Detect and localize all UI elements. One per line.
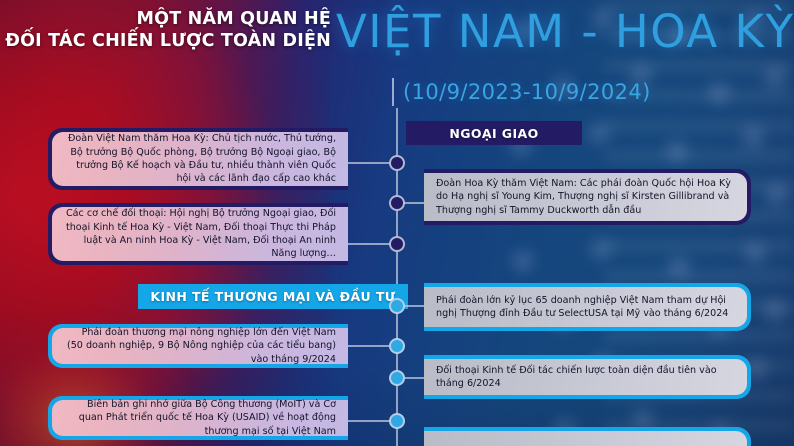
timeline-card-2-body: Các cơ chế đối thoại: Hội nghị Bộ trưởng… [52, 207, 348, 261]
timeline-card-7-body: Biên bản ghi nhớ giữa Bộ Công thương (Mo… [52, 400, 348, 436]
header-date-divider [392, 78, 394, 106]
timeline-card-1[interactable]: Đoàn Việt Nam thăm Hoa Kỳ: Chủ tịch nước… [48, 128, 348, 190]
timeline-card-8-body [424, 431, 747, 446]
timeline-node-1 [389, 155, 405, 171]
timeline-card-6-text: Đối thoại Kinh tế Đối tác chiến lược toà… [436, 364, 735, 391]
timeline-card-4[interactable]: Phái đoàn lớn kỷ lục 65 doanh nghiệp Việ… [424, 283, 751, 331]
timeline-card-4-body: Phái đoàn lớn kỷ lục 65 doanh nghiệp Việ… [424, 287, 747, 327]
timeline-card-7-text: Biên bản ghi nhớ giữa Bộ Công thương (Mo… [64, 398, 336, 438]
timeline-card-5-body: Phái đoàn thương mại nông nghiệp lớn đến… [52, 328, 348, 364]
header-kicker-line-1: MỘT NĂM QUAN HỆ [5, 8, 331, 30]
timeline-card-1-body: Đoàn Việt Nam thăm Hoa Kỳ: Chủ tịch nước… [52, 132, 348, 186]
timeline-card-3[interactable]: Đoàn Hoa Kỳ thăm Việt Nam: Các phái đoàn… [424, 169, 751, 225]
header-date-range: (10/9/2023-10/9/2024) [403, 80, 651, 104]
header-date-group: (10/9/2023-10/9/2024) [392, 78, 651, 106]
timeline-card-3-body: Đoàn Hoa Kỳ thăm Việt Nam: Các phái đoàn… [424, 173, 747, 221]
section-header-economy: KINH TẾ THƯƠNG MẠI VÀ ĐẦU TƯ [138, 284, 408, 309]
timeline-card-3-text: Đoàn Hoa Kỳ thăm Việt Nam: Các phái đoàn… [436, 177, 735, 217]
timeline-node-2 [389, 195, 405, 211]
timeline-card-2[interactable]: Các cơ chế đối thoại: Hội nghị Bộ trưởng… [48, 203, 348, 265]
infographic-canvas: MỘT NĂM QUAN HỆ ĐỐI TÁC CHIẾN LƯỢC TOÀN … [0, 0, 794, 446]
timeline-card-4-text: Phái đoàn lớn kỷ lục 65 doanh nghiệp Việ… [436, 294, 735, 321]
timeline-card-6-body: Đối thoại Kinh tế Đối tác chiến lược toà… [424, 359, 747, 395]
timeline-node-7 [389, 413, 405, 429]
timeline-card-5-text: Phái đoàn thương mại nông nghiệp lớn đến… [64, 326, 336, 366]
section-header-diplomacy: NGOẠI GIAO [406, 121, 582, 145]
header-kicker: MỘT NĂM QUAN HỆ ĐỐI TÁC CHIẾN LƯỢC TOÀN … [5, 8, 331, 52]
timeline-card-5[interactable]: Phái đoàn thương mại nông nghiệp lớn đến… [48, 324, 348, 368]
timeline-card-2-text: Các cơ chế đối thoại: Hội nghị Bộ trưởng… [64, 207, 336, 261]
timeline-card-1-text: Đoàn Việt Nam thăm Hoa Kỳ: Chủ tịch nước… [64, 132, 336, 186]
header-kicker-line-2: ĐỐI TÁC CHIẾN LƯỢC TOÀN DIỆN [5, 30, 331, 52]
timeline-card-7[interactable]: Biên bản ghi nhớ giữa Bộ Công thương (Mo… [48, 396, 348, 440]
infographic-header: MỘT NĂM QUAN HỆ ĐỐI TÁC CHIẾN LƯỢC TOÀN … [0, 0, 794, 116]
page-title: VIỆT NAM - HOA KỲ [336, 5, 794, 59]
timeline-node-3 [389, 236, 405, 252]
timeline-node-6 [389, 370, 405, 386]
timeline-node-4 [389, 298, 405, 314]
timeline-node-5 [389, 338, 405, 354]
timeline-card-8[interactable] [424, 427, 751, 446]
timeline-card-6[interactable]: Đối thoại Kinh tế Đối tác chiến lược toà… [424, 355, 751, 399]
